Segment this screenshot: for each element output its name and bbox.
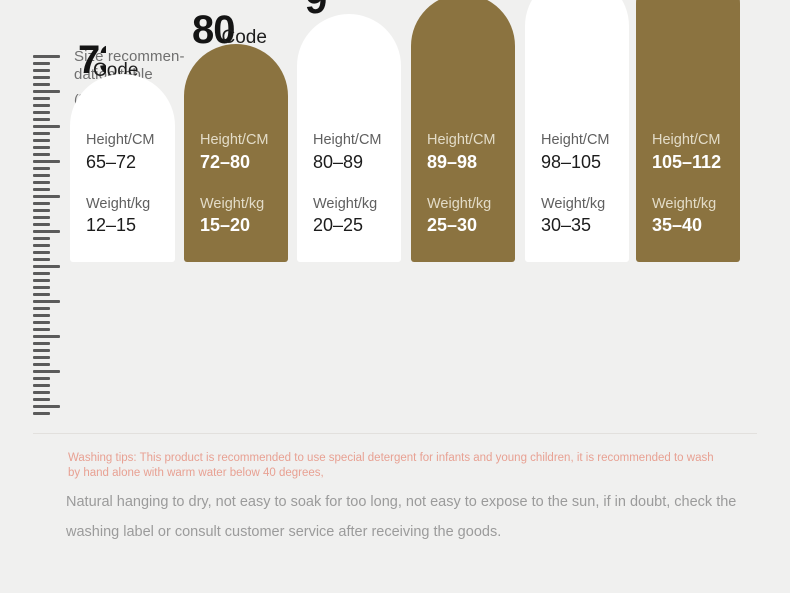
size-card-content: Height/CM80–89Weight/kg20–25 [313,132,391,236]
height-value: 80–89 [313,152,391,173]
size-code-badge: 9Code [305,0,326,20]
size-card-content: Height/CM65–72Weight/kg12–15 [86,132,165,236]
care-notes-text: Natural hanging to dry, not easy to soak… [66,487,746,547]
washing-tips-text: Washing tips: This product is recommende… [68,451,728,481]
size-card[interactable]: Height/CM105–112Weight/kg35–40 [636,0,740,262]
height-label: Height/CM [313,132,391,149]
size-card-row: 73CodeHeight/CM65–72Weight/kg12–1580Code… [0,0,790,440]
weight-value: 15–20 [200,215,278,236]
height-value: 65–72 [86,152,165,173]
size-card-content: Height/CM72–80Weight/kg15–20 [200,132,278,236]
height-label: Height/CM [86,132,165,149]
weight-label: Weight/kg [200,196,278,213]
size-card-content: Height/CM98–105Weight/kg30–35 [541,132,619,236]
height-value: 72–80 [200,152,278,173]
size-column-100: 100CodeHeight/CM89–98Weight/kg25–30 [411,0,515,262]
size-chart-page: Size recommen- dation table (Unit: cm) 7… [0,0,790,593]
weight-value: 35–40 [652,215,730,236]
size-card[interactable]: Height/CM65–72Weight/kg12–15 [70,74,175,262]
weight-label: Weight/kg [427,196,505,213]
size-column-120: 120CodeHeight/CM105–112Weight/kg35–40 [636,0,740,262]
height-label: Height/CM [200,132,278,149]
weight-label-block: Weight/kg12–15 [86,196,165,236]
height-label-block: Height/CM105–112 [652,132,730,172]
size-card-content: Height/CM89–98Weight/kg25–30 [427,132,505,236]
height-label-block: Height/CM89–98 [427,132,505,172]
section-divider [33,433,757,434]
size-card[interactable]: Height/CM89–98Weight/kg25–30 [411,0,515,262]
weight-label-block: Weight/kg15–20 [200,196,278,236]
weight-label: Weight/kg [86,196,165,213]
size-column-73: 73CodeHeight/CM65–72Weight/kg12–15 [70,74,175,262]
height-label: Height/CM [541,132,619,149]
weight-label-block: Weight/kg20–25 [313,196,391,236]
weight-label: Weight/kg [313,196,391,213]
height-value: 98–105 [541,152,619,173]
weight-value: 25–30 [427,215,505,236]
weight-label: Weight/kg [652,196,730,213]
weight-value: 30–35 [541,215,619,236]
height-label: Height/CM [427,132,505,149]
size-column-110: 110CodeHeight/CM98–105Weight/kg30–35 [525,0,629,262]
size-card[interactable]: Height/CM80–89Weight/kg20–25 [297,14,401,262]
weight-value: 20–25 [313,215,391,236]
weight-label: Weight/kg [541,196,619,213]
height-label-block: Height/CM98–105 [541,132,619,172]
height-value: 89–98 [427,152,505,173]
height-label-block: Height/CM65–72 [86,132,165,172]
size-card[interactable]: Height/CM98–105Weight/kg30–35 [525,0,629,262]
height-value: 105–112 [652,152,730,173]
size-column-80: 80CodeHeight/CM72–80Weight/kg15–20 [184,44,288,262]
weight-value: 12–15 [86,215,165,236]
weight-label-block: Weight/kg25–30 [427,196,505,236]
height-label: Height/CM [652,132,730,149]
weight-label-block: Weight/kg35–40 [652,196,730,236]
height-label-block: Height/CM80–89 [313,132,391,172]
size-code-number: 9 [305,0,326,22]
height-label-block: Height/CM72–80 [200,132,278,172]
size-column-9: 9CodeHeight/CM80–89Weight/kg20–25 [297,14,401,262]
weight-label-block: Weight/kg30–35 [541,196,619,236]
size-card-content: Height/CM105–112Weight/kg35–40 [652,132,730,236]
size-card[interactable]: Height/CM72–80Weight/kg15–20 [184,44,288,262]
